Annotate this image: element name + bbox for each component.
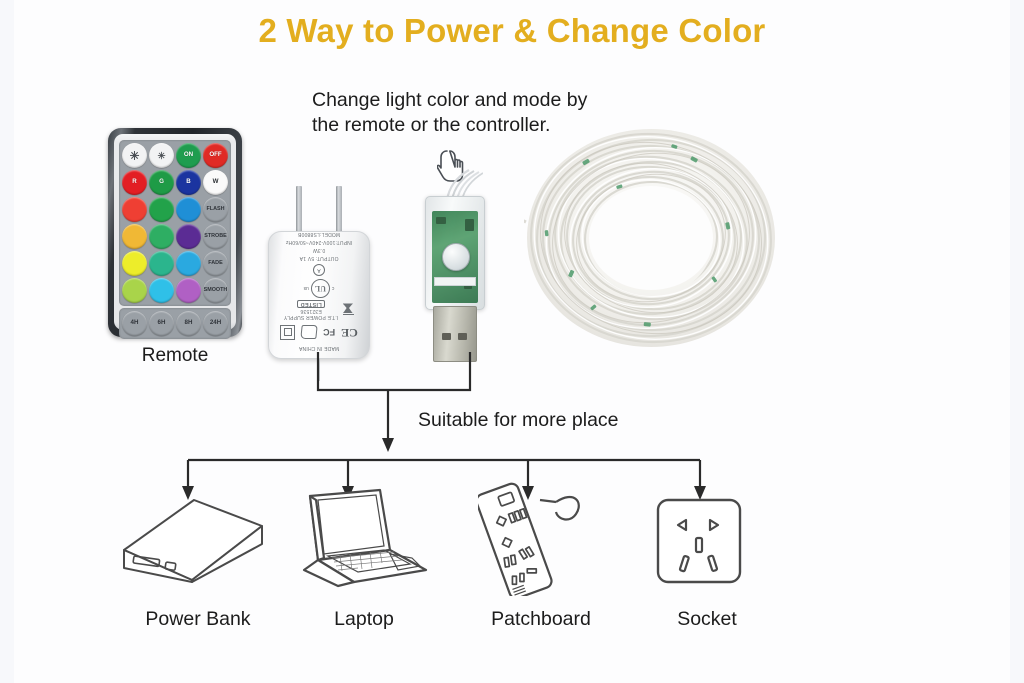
socket-icon (652, 494, 746, 588)
arrow-head-main (382, 438, 394, 452)
adapter-certification-marks: CE FC (280, 325, 358, 340)
remote-button-color-green-2[interactable] (149, 197, 174, 222)
patchboard-label: Patchboard (448, 608, 634, 631)
adapter-prong-left (296, 186, 302, 234)
remote-button-timer-24h[interactable]: 24H (203, 311, 228, 336)
adapter-printed-label: MADE IN CHINA CE FC I.T.E POWER SUPPLY E… (269, 232, 369, 358)
house-mark-icon (300, 326, 317, 340)
remote-button-brightness-up[interactable] (122, 143, 147, 168)
adapter-model: MODEL:LS8800B (298, 231, 340, 237)
controller-contact-strip (434, 277, 476, 286)
remote-button-color-blue-2[interactable] (176, 197, 201, 222)
ul-right-mark: us (304, 286, 309, 292)
remote-button-mode-purple[interactable] (176, 224, 201, 249)
sun-dim-glyph (158, 152, 165, 159)
class2-mark-icon (280, 325, 295, 340)
remote-button-grid[interactable]: ONOFFRGBWFLASHSTROBEFADESMOOTH (119, 140, 231, 306)
small-cert-icon: A (313, 264, 325, 276)
socket-label: Socket (638, 608, 776, 631)
remote-timer-row[interactable]: 4H6H8H24H (119, 308, 231, 339)
adapter-listed-note: I.T.E POWER SUPPLY (284, 314, 339, 320)
instruction-line-1: Change light color and mode by (312, 88, 652, 113)
page-title: 2 Way to Power & Change Color (0, 12, 1024, 50)
adapter-listed-badge: LISTED (297, 300, 324, 308)
remote-button-color-red-orange[interactable] (122, 197, 147, 222)
remote-button-color-teal[interactable] (149, 251, 174, 276)
controller-housing (425, 196, 485, 310)
laptop-label: Laptop (290, 608, 438, 631)
remote-button-power-off[interactable]: OFF (203, 143, 228, 168)
remote-button-timer-6h[interactable]: 6H (149, 311, 174, 336)
remote-button-color-sky[interactable] (176, 251, 201, 276)
remote-button-brightness-down[interactable] (149, 143, 174, 168)
remote-face: ONOFFRGBWFLASHSTROBEFADESMOOTH 4H6H8H24H (114, 134, 236, 330)
remote-button-color-red[interactable]: R (122, 170, 147, 195)
remote-button-mode-smooth[interactable]: SMOOTH (203, 278, 228, 303)
remote-button-mode-fade[interactable]: FADE (203, 251, 228, 276)
adapter-prong-right (336, 186, 342, 234)
adapter-power: 0.3W (313, 247, 325, 253)
remote-button-color-lime[interactable] (122, 278, 147, 303)
power-bank-icon (118, 494, 268, 588)
waste-bin-icon (343, 304, 354, 317)
ul-mark-icon: UL (311, 279, 330, 298)
adapter-ul-row: c UL us (304, 279, 335, 298)
usb-slot-left (442, 333, 451, 340)
adapter-made-in: MADE IN CHINA (299, 345, 339, 351)
adapter-listed-sub: E321536 (300, 308, 321, 314)
remote-button-color-cyan[interactable] (149, 278, 174, 303)
remote-button-color-magenta[interactable] (176, 278, 201, 303)
remote-button-mode-strobe[interactable]: STROBE (203, 224, 228, 249)
adapter-output: OUTPUT: 5V 1A (300, 255, 339, 261)
remote-button-power-on[interactable]: ON (176, 143, 201, 168)
fcc-mark-icon: FC (323, 328, 335, 338)
remote-button-color-yellow[interactable] (122, 251, 147, 276)
sun-bright-glyph (130, 151, 139, 160)
remote-button-color-white[interactable]: W (203, 170, 228, 195)
adapter-input: INPUT:100V-240V~50/60Hz (286, 239, 353, 245)
remote-control[interactable]: ONOFFRGBWFLASHSTROBEFADESMOOTH 4H6H8H24H (108, 128, 242, 337)
adapter-body: MADE IN CHINA CE FC I.T.E POWER SUPPLY E… (268, 231, 370, 359)
remote-shell: ONOFFRGBWFLASHSTROBEFADESMOOTH 4H6H8H24H (108, 128, 242, 337)
remote-button-mode-flash[interactable]: FLASH (203, 197, 228, 222)
remote-button-color-green[interactable]: G (149, 170, 174, 195)
controller-mode-button[interactable] (442, 243, 470, 271)
ul-left-mark: c (332, 286, 335, 292)
adapter-marks-row-2: I.T.E POWER SUPPLY E321536 LISTED (284, 300, 355, 320)
ce-mark-icon: CE (341, 325, 358, 340)
laptop-icon (298, 484, 430, 592)
remote-button-color-blue[interactable]: B (176, 170, 201, 195)
led-string-light-coil (524, 126, 778, 348)
infographic-canvas: 2 Way to Power & Change Color Change lig… (0, 0, 1024, 683)
usb-controller[interactable] (425, 196, 485, 310)
remote-button-timer-4h[interactable]: 4H (122, 311, 147, 336)
suitable-label: Suitable for more place (418, 409, 619, 432)
usb-slot-right (458, 333, 467, 340)
remote-button-timer-8h[interactable]: 8H (176, 311, 201, 336)
patchboard-icon (478, 474, 588, 596)
power-bank-label: Power Bank (100, 608, 296, 631)
remote-button-color-orange[interactable] (122, 224, 147, 249)
remote-button-color-green-3[interactable] (149, 224, 174, 249)
